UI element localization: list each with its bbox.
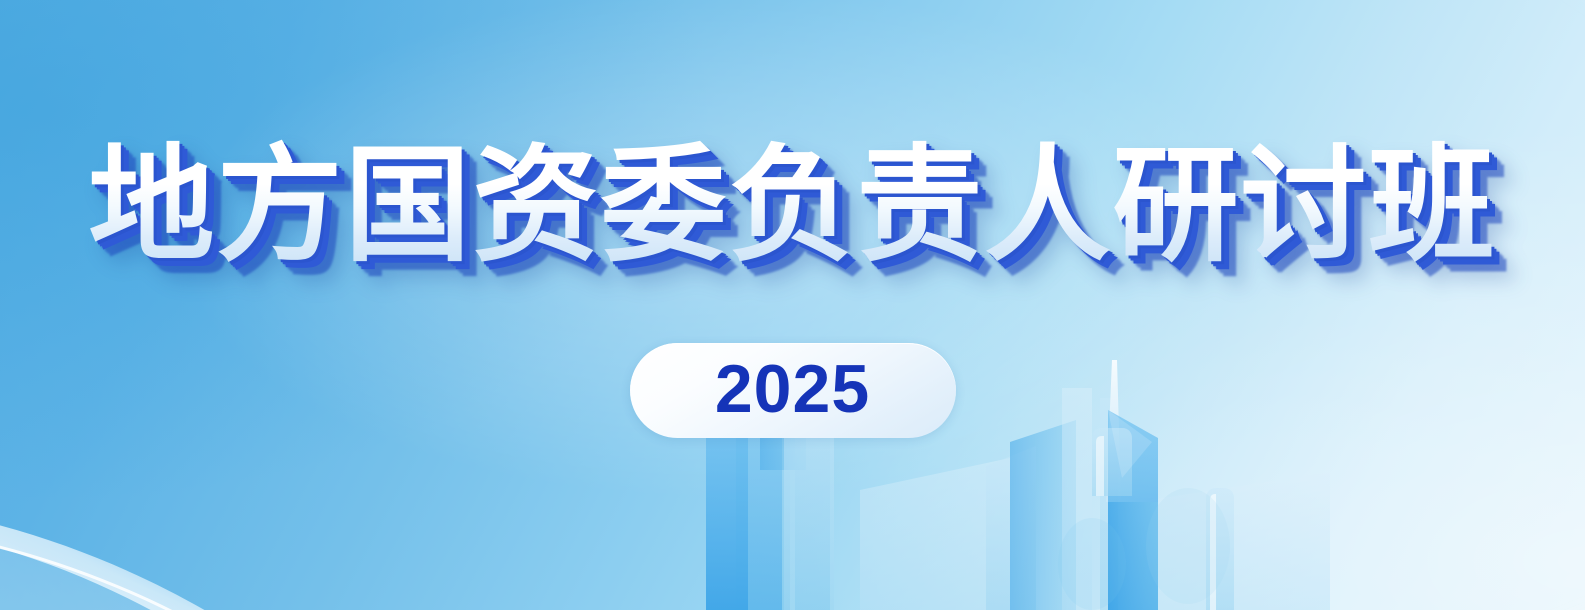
- banner-root: 地方国资委负责人研讨班 2025: [0, 0, 1585, 610]
- year-badge[interactable]: 2025: [630, 343, 956, 438]
- year-badge-text: 2025: [715, 355, 870, 423]
- year-badge-row: 2025: [0, 343, 1585, 438]
- background-bottom-right-glow: [0, 0, 1585, 610]
